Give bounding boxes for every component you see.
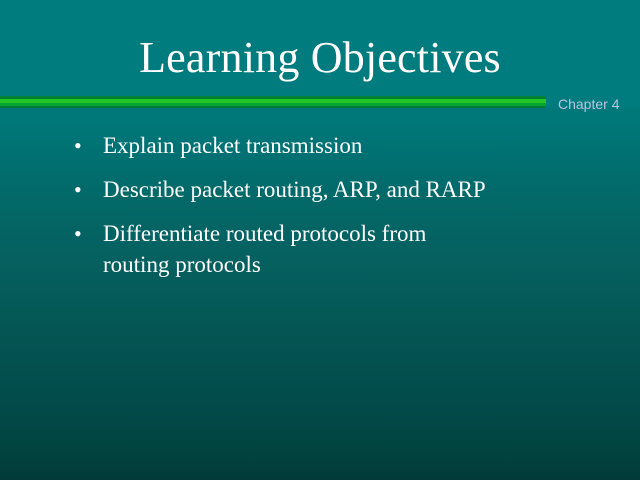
bullet-point-icon: • (70, 218, 103, 249)
bullet-point-icon: • (70, 130, 103, 161)
list-item: • Describe packet routing, ARP, and RARP (70, 174, 570, 205)
list-item-label: Differentiate routed protocols from rout… (103, 218, 493, 280)
divider-stripe-dark-bottom (0, 106, 546, 108)
presentation-slide: Learning Objectives Chapter 4 • Explain … (0, 0, 640, 480)
bullet-list: • Explain packet transmission • Describe… (70, 130, 570, 293)
list-item-label: Describe packet routing, ARP, and RARP (103, 174, 493, 205)
list-item: • Differentiate routed protocols from ro… (70, 218, 570, 280)
title-divider-bar (0, 96, 546, 108)
slide-title: Learning Objectives (0, 32, 640, 84)
list-item: • Explain packet transmission (70, 130, 570, 161)
bullet-point-icon: • (70, 174, 103, 205)
list-item-label: Explain packet transmission (103, 130, 493, 161)
chapter-label: Chapter 4 (558, 95, 619, 113)
